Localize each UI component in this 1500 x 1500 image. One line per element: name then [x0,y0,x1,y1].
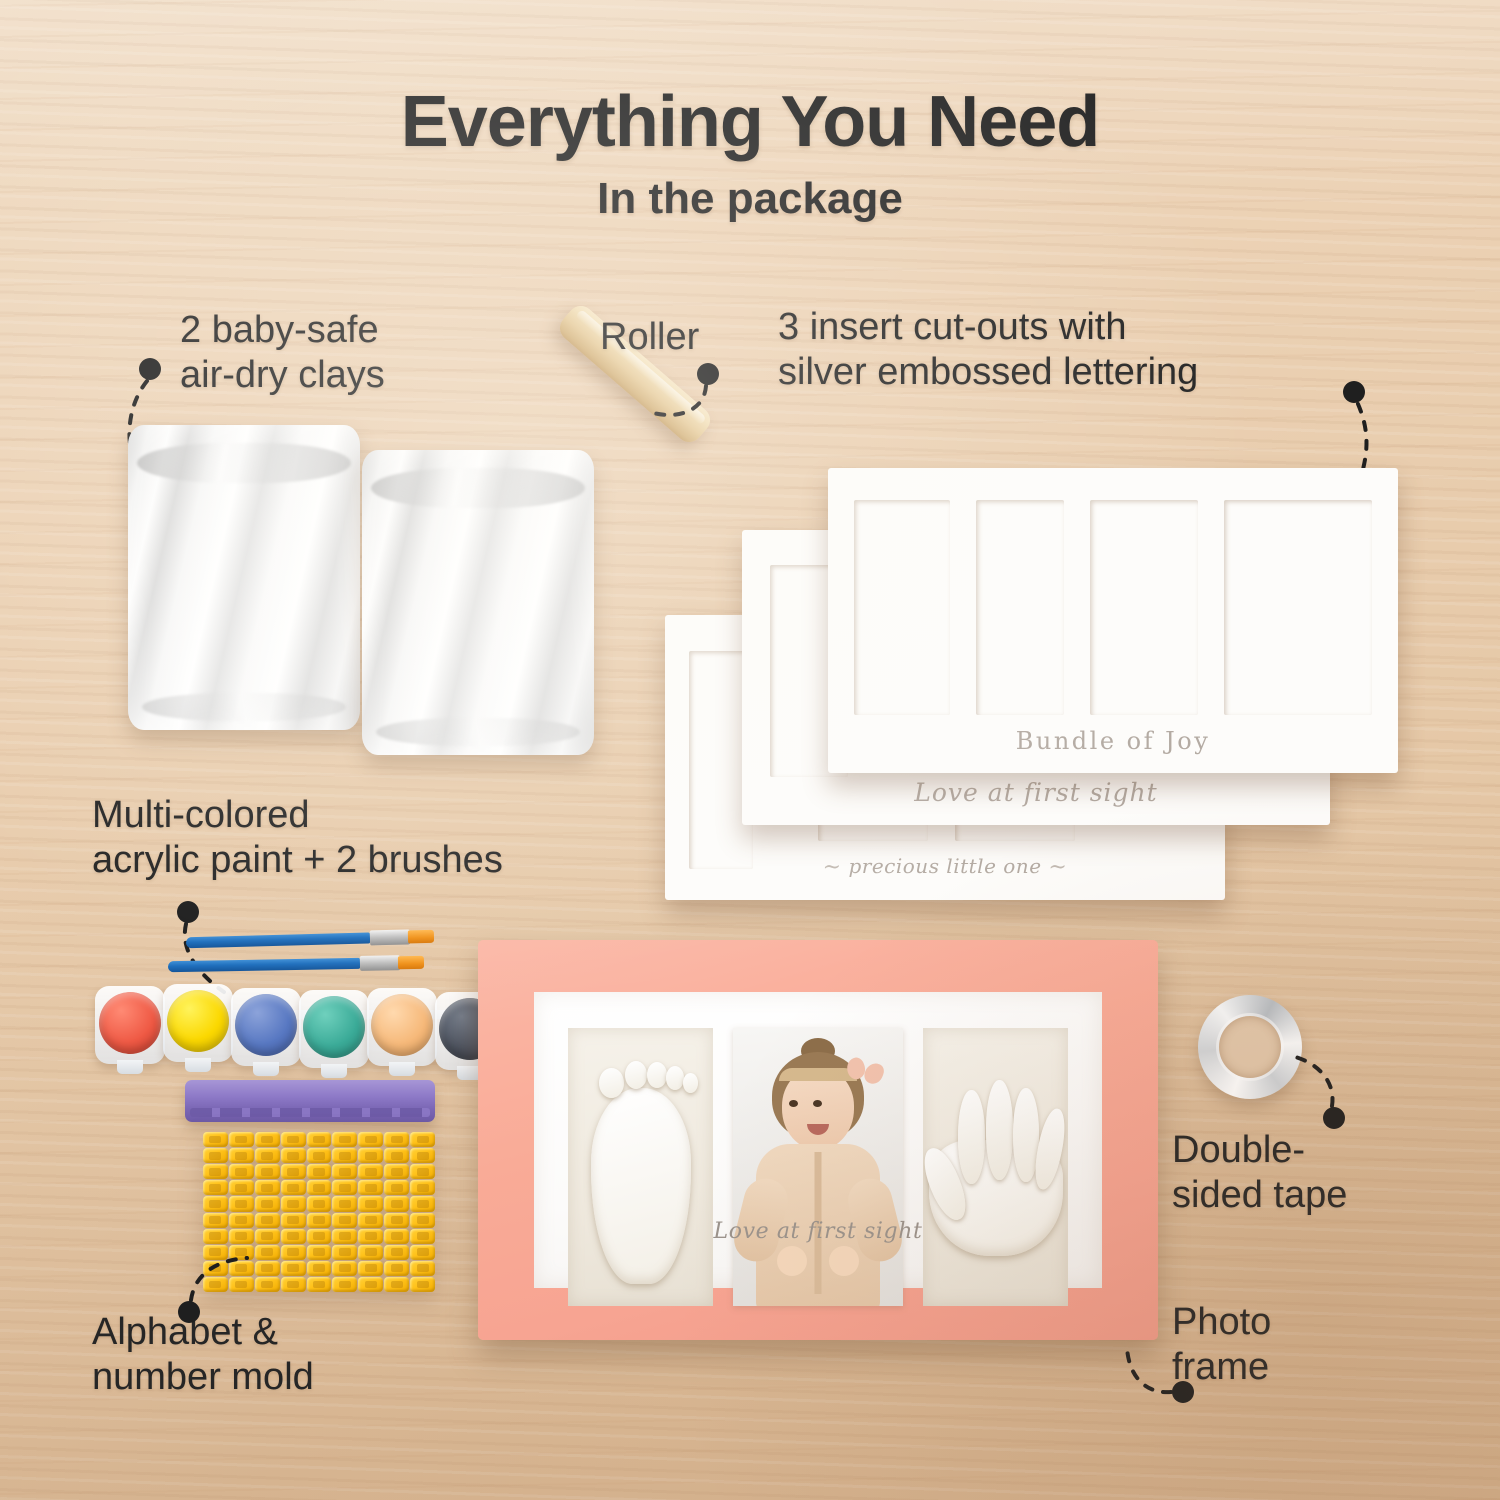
mold-tile [307,1164,332,1179]
paint-pot-red [99,992,161,1054]
mold-tile [307,1229,332,1244]
mold-tile [281,1148,306,1163]
mold-tile [384,1277,409,1292]
mold-tile [281,1213,306,1228]
product-infographic: Everything You Need In the package 2 bab… [0,0,1500,1500]
mold-tile [332,1229,357,1244]
mold-tile [203,1164,228,1179]
page-title: Everything You Need [0,86,1500,158]
insert-window [1224,500,1372,715]
mold-tile [255,1196,280,1211]
callout-paint: Multi-colored acrylic paint + 2 brushes [92,793,503,883]
mold-tile [384,1196,409,1211]
mold-tile [384,1164,409,1179]
mold-tile [229,1196,254,1211]
insert-window [1090,500,1198,715]
mold-tile [332,1245,357,1260]
mold-tile [410,1261,435,1276]
insert-mat-1: Bundle of Joy [828,468,1398,773]
page-subtitle: In the package [0,174,1500,224]
mold-tile [307,1261,332,1276]
mold-tile [384,1213,409,1228]
mold-tile [307,1277,332,1292]
photo-frame: Love at first sight [478,940,1158,1340]
mold-tile [332,1261,357,1276]
clay-pouch-1 [128,425,360,730]
mold-tile [255,1148,280,1163]
mold-tile [307,1148,332,1163]
mold-tile [203,1132,228,1147]
photo-frame-caption: Love at first sight [534,1219,1102,1244]
mold-tile [281,1180,306,1195]
mold-tile [384,1245,409,1260]
mold-tile [332,1164,357,1179]
mold-tile [358,1229,383,1244]
mold-tile [384,1261,409,1276]
insert-window [854,500,950,715]
mold-tile [410,1180,435,1195]
mold-tile [307,1196,332,1211]
callout-tape: Double- sided tape [1172,1128,1347,1218]
mold-tile [229,1164,254,1179]
frame-mat: Love at first sight [534,992,1102,1288]
mold-tile [255,1132,280,1147]
mold-tile [255,1180,280,1195]
brush-ferrule [360,955,400,971]
mold-tile [307,1180,332,1195]
mold-tile [229,1180,254,1195]
brush-bristle [398,956,424,969]
mold-tile [332,1132,357,1147]
leader-line-tape [1278,1040,1388,1140]
mold-tile [255,1213,280,1228]
mold-tile [358,1164,383,1179]
paint-pot-peach [371,994,433,1056]
mold-tile [410,1229,435,1244]
brush-handle [168,958,360,972]
hair-bow [847,1058,881,1084]
insert-caption-2: Love at first sight [742,778,1330,807]
paint-pot-yellow [167,990,229,1052]
paint-pot-strip [95,980,515,1060]
mold-tile [358,1261,383,1276]
mold-tile [281,1164,306,1179]
footprint-cast [568,1028,713,1306]
mold-tile [255,1164,280,1179]
baby-photo [733,1028,903,1306]
mold-tile [358,1180,383,1195]
leader-line-mold [175,1238,285,1338]
mold-tile [332,1148,357,1163]
mold-holder-bar [185,1080,435,1122]
mold-tile [384,1229,409,1244]
mold-tile [203,1148,228,1163]
handprint-cast [923,1028,1068,1306]
mold-tile [307,1132,332,1147]
mold-tile [332,1196,357,1211]
mold-tile [410,1148,435,1163]
mold-tile [358,1245,383,1260]
mold-tile [229,1148,254,1163]
mold-tile [384,1148,409,1163]
mold-tile [358,1213,383,1228]
brush-ferrule [370,929,410,945]
mold-tile [229,1213,254,1228]
mold-tile [332,1277,357,1292]
insert-caption-3: ~ precious little one ~ [665,854,1225,880]
mold-tile [410,1277,435,1292]
paint-pot-teal [303,996,365,1058]
clay-pouch-2 [362,450,594,755]
mold-tile [203,1196,228,1211]
callout-roller: Roller [600,315,699,360]
mold-tile [358,1196,383,1211]
mold-tile [358,1148,383,1163]
callout-inserts: 3 insert cut-outs with silver embossed l… [778,305,1198,395]
mold-tile [203,1213,228,1228]
mold-tile [358,1277,383,1292]
mold-tile [410,1164,435,1179]
mold-tile [281,1132,306,1147]
leader-line-roller [630,360,740,440]
title-block: Everything You Need In the package [0,86,1500,224]
mold-tile [410,1196,435,1211]
mold-tile [332,1213,357,1228]
mold-tile [229,1132,254,1147]
insert-caption-text: precious little one [848,854,1041,878]
mold-tile [410,1213,435,1228]
mold-tile [307,1245,332,1260]
mold-tile [410,1132,435,1147]
insert-caption-1: Bundle of Joy [828,727,1398,755]
mold-tile [410,1245,435,1260]
mold-tile [384,1180,409,1195]
paint-pot-blue [235,994,297,1056]
mold-tile [358,1132,383,1147]
brush-bristle [408,930,434,944]
mold-tile [281,1196,306,1211]
mold-tile [307,1213,332,1228]
mold-tile [203,1180,228,1195]
insert-window [976,500,1064,715]
mold-tile [384,1132,409,1147]
callout-frame: Photo frame [1172,1300,1271,1390]
mold-tile [332,1180,357,1195]
